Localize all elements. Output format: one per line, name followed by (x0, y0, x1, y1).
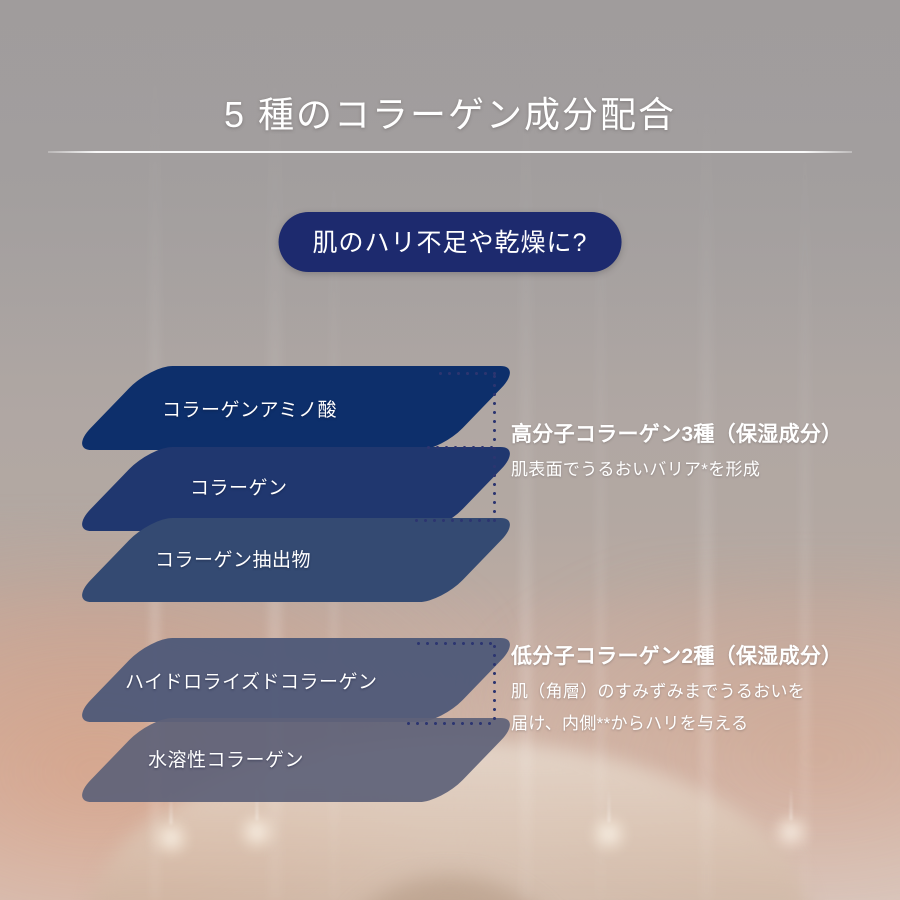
connector-line-layer-4 (414, 642, 496, 645)
connector-line-layer-3 (412, 519, 496, 522)
annotation-low-molecular-line-2: 届け、内側**からハリを与える (511, 709, 842, 734)
collagen-layer-4-label: ハイドロライズドコラーゲン (125, 667, 378, 694)
collagen-layer-3-label: コラーゲン抽出物 (155, 545, 311, 572)
connector-line-layer-1 (436, 372, 496, 375)
annotation-high-molecular-heading: 高分子コラーゲン3種（保湿成分） (511, 418, 842, 448)
annotation-low-molecular: 低分子コラーゲン2種（保湿成分） 肌（角層）のすみずみまでうるおいを 届け、内側… (511, 640, 842, 734)
pendant-lamp-glow (589, 814, 629, 854)
connector-line-layer-2 (424, 446, 496, 449)
pendant-lamp-glow (771, 812, 811, 852)
collagen-layer-1-label: コラーゲンアミノ酸 (162, 395, 337, 422)
annotation-low-molecular-heading: 低分子コラーゲン2種（保湿成分） (511, 640, 842, 670)
collagen-layer-2-label: コラーゲン (190, 473, 288, 500)
connector-spine-lower (493, 642, 496, 725)
connector-spine-upper (493, 372, 496, 522)
annotation-low-molecular-line-1: 肌（角層）のすみずみまでうるおいを (511, 677, 842, 702)
pendant-lamp-glow (151, 818, 191, 858)
annotation-high-molecular: 高分子コラーゲン3種（保湿成分） 肌表面でうるおいバリア*を形成 (511, 418, 842, 480)
pendant-lamp-glow (237, 812, 277, 852)
connector-line-layer-5 (404, 722, 496, 725)
infographic-canvas: 5 種のコラーゲン成分配合 肌のハリ不足や乾燥に? コラーゲンアミノ酸 コラーゲ… (0, 0, 900, 900)
collagen-layer-5-label: 水溶性コラーゲン (148, 745, 304, 772)
annotation-high-molecular-line-1: 肌表面でうるおいバリア*を形成 (511, 455, 842, 480)
page-title: 5 種のコラーゲン成分配合 (0, 86, 900, 138)
status-badge: 肌のハリ不足や乾燥に? (279, 212, 622, 272)
title-divider (48, 151, 852, 153)
